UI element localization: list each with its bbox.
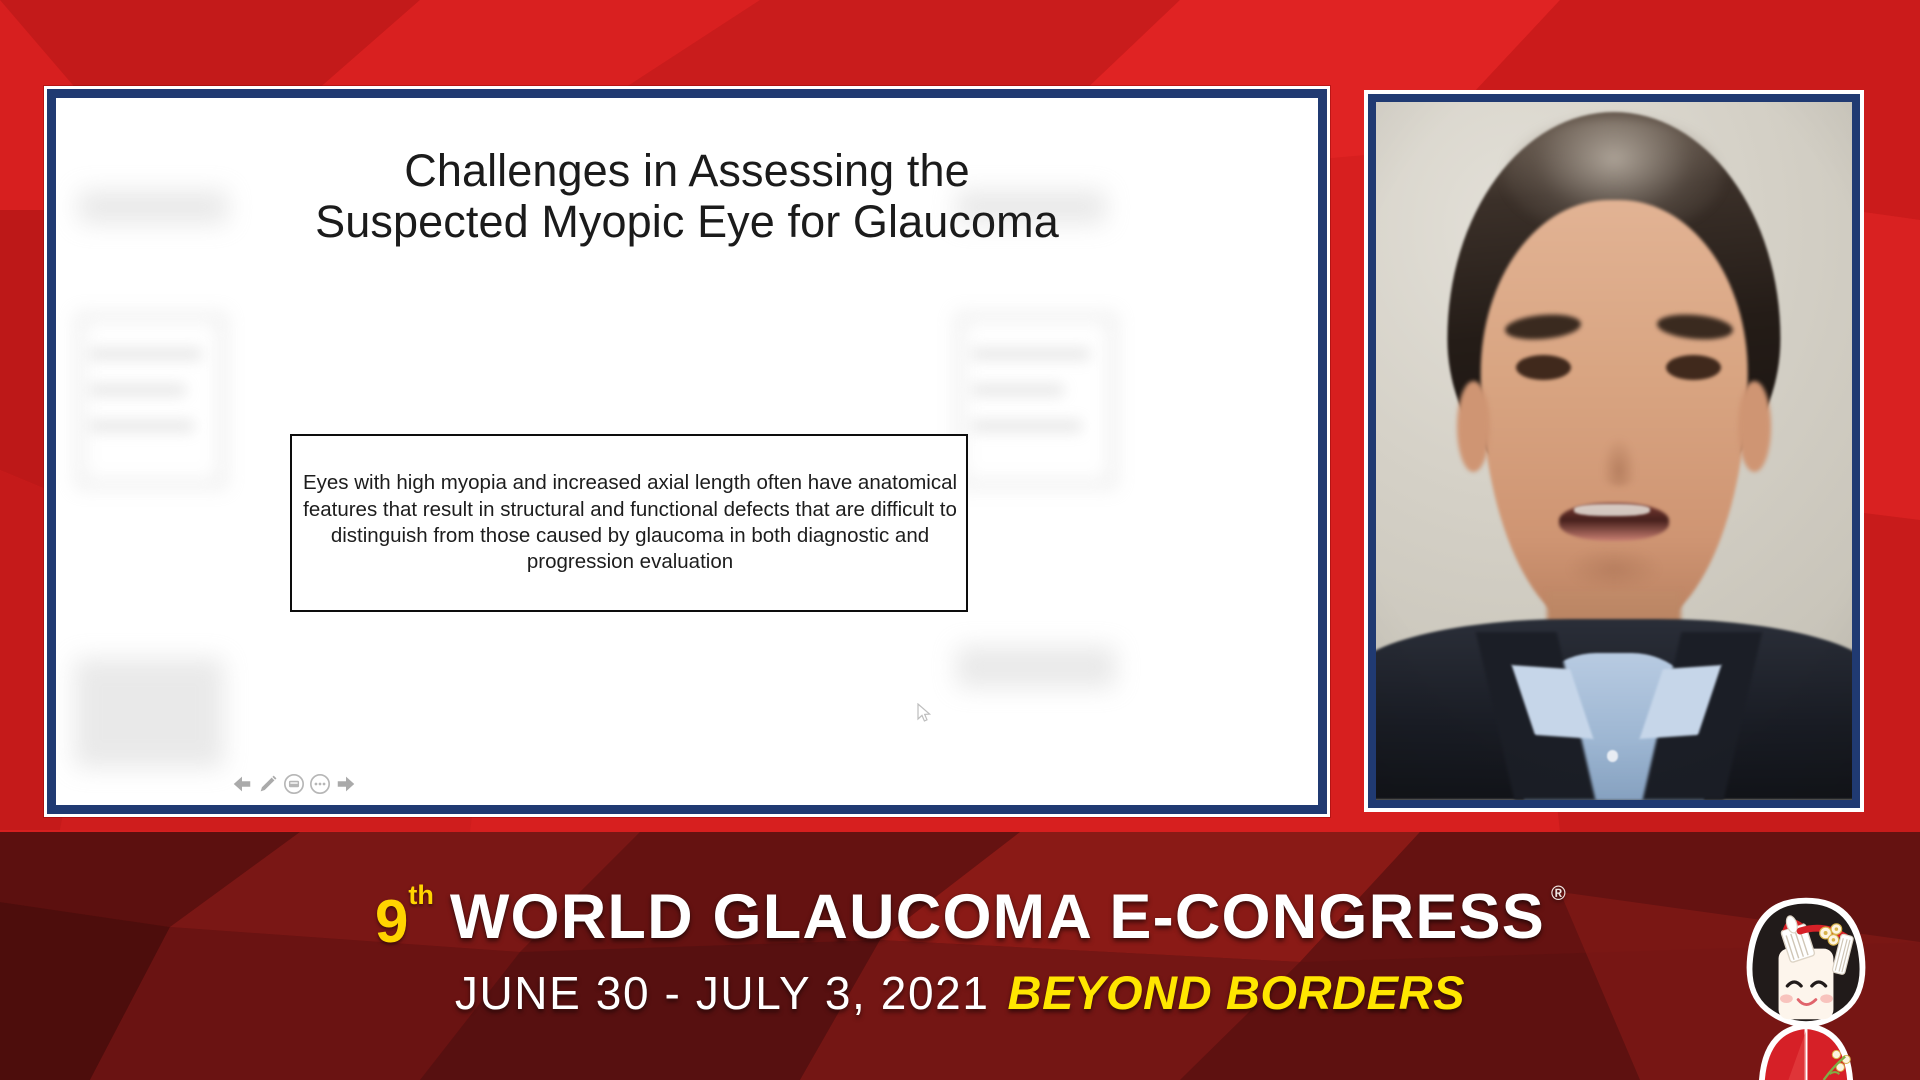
presenter-view-icon[interactable] [283, 773, 305, 795]
statement-text: Eyes with high myopia and increased axia… [294, 470, 966, 576]
presenter-video-feed[interactable] [1376, 102, 1852, 800]
ghost-block-bottom-left [74, 658, 224, 768]
ghost-block-bottom-right [956, 646, 1116, 688]
banner-tagline: BEYOND BORDERS [1008, 965, 1466, 1020]
next-slide-arrow-icon[interactable] [335, 773, 357, 795]
ghost-line-r3 [972, 420, 1082, 432]
slide-frame-border: Challenges in Assessing the Suspected My… [47, 89, 1327, 814]
registered-trademark-icon: ® [1551, 884, 1567, 904]
banner-edition-number: 9 [375, 888, 408, 955]
kokeshi-doll-mascot-icon [1708, 884, 1904, 1080]
banner-event-dates: JUNE 30 - JULY 3, 2021 [455, 966, 990, 1020]
slide-canvas: Challenges in Assessing the Suspected My… [56, 98, 1318, 805]
banner-content: 9th WORLD GLAUCOMA E-CONGRESS ® JUNE 30 … [0, 832, 1920, 1080]
ghost-box-right [956, 313, 1116, 488]
slide-navigation-bar[interactable] [231, 773, 357, 795]
banner-edition-suffix: th [408, 880, 433, 910]
video-frame-border [1368, 94, 1860, 808]
banner-event-name: WORLD GLAUCOMA E-CONGRESS ® [450, 886, 1545, 949]
ghost-line-r2 [972, 384, 1064, 396]
video-vignette [1376, 102, 1852, 800]
video-frame[interactable] [1364, 90, 1864, 812]
event-banner: 9th WORLD GLAUCOMA E-CONGRESS ® JUNE 30 … [0, 832, 1920, 1080]
banner-title-row: 9th WORLD GLAUCOMA E-CONGRESS ® [375, 886, 1545, 949]
banner-subtitle-row: JUNE 30 - JULY 3, 2021 BEYOND BORDERS [455, 965, 1465, 1020]
slide-title-line-1: Challenges in Assessing the [206, 146, 1168, 197]
slide-title-line-2: Suspected Myopic Eye for Glaucoma [206, 197, 1168, 248]
more-options-icon[interactable] [309, 773, 331, 795]
banner-edition-ordinal: 9th [375, 892, 434, 952]
slide-title: Challenges in Assessing the Suspected My… [56, 146, 1318, 248]
ghost-line-l2 [90, 384, 186, 396]
banner-event-name-text: WORLD GLAUCOMA E-CONGRESS [450, 882, 1545, 952]
ghost-line-r1 [972, 348, 1090, 360]
slide-frame: Challenges in Assessing the Suspected My… [44, 86, 1330, 817]
mouse-cursor-icon [917, 703, 931, 723]
ghost-line-l1 [90, 348, 202, 360]
ghost-line-l3 [90, 420, 194, 432]
ghost-box-left [76, 313, 226, 488]
presentation-stage: Challenges in Assessing the Suspected My… [0, 0, 1920, 1080]
pen-annotate-icon[interactable] [257, 773, 279, 795]
previous-slide-arrow-icon[interactable] [231, 773, 253, 795]
statement-box: Eyes with high myopia and increased axia… [290, 434, 968, 612]
